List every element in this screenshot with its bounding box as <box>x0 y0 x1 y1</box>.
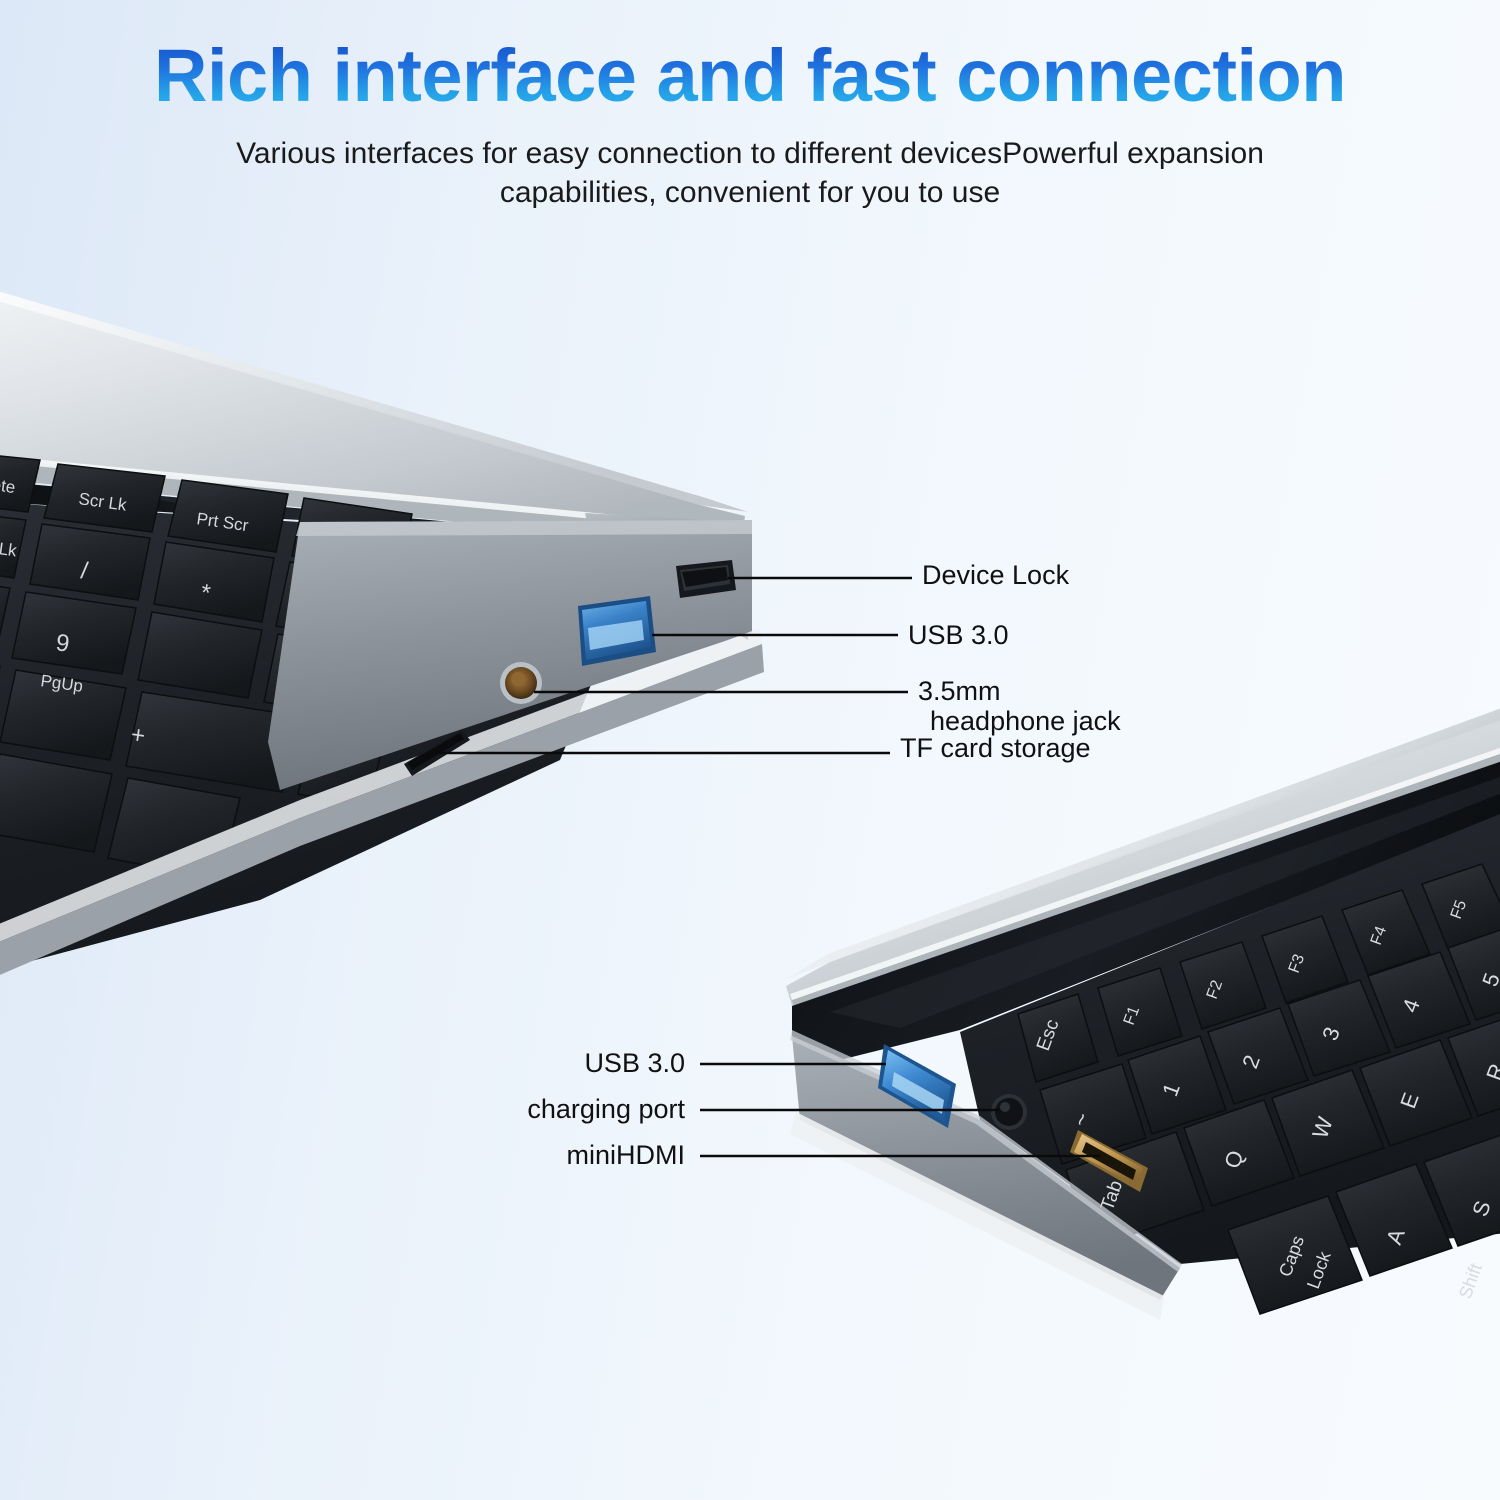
callout-usb-top-label: USB 3.0 <box>908 620 1009 650</box>
callout-charging-port: charging port <box>330 1094 685 1124</box>
callout-headphone-jack-label-line1: 3.5mm <box>918 676 1001 706</box>
product-illustration: elete Scr Lk Prt Scr Pause um Lk / * - 8… <box>0 0 1500 1500</box>
callout-headphone-jack-label-line2: headphone jack <box>930 706 1121 736</box>
callout-minihdmi-label: miniHDMI <box>567 1140 686 1170</box>
lower-laptop: Esc F1 F2 F3 F4 F5 ~ 1 2 3 4 5 Tab Q W E… <box>784 694 1500 1320</box>
upper-headphone-jack-port <box>500 662 542 704</box>
callout-minihdmi: miniHDMI <box>330 1140 685 1170</box>
svg-text:Shift: Shift <box>1455 1261 1486 1302</box>
callout-device-lock: Device Lock <box>922 560 1069 590</box>
callout-charging-port-label: charging port <box>527 1094 685 1124</box>
callout-usb-bottom-label: USB 3.0 <box>584 1048 685 1078</box>
upper-laptop: elete Scr Lk Prt Scr Pause um Lk / * - 8… <box>0 280 764 992</box>
callout-tf-card: TF card storage <box>900 733 1091 763</box>
lower-charging-port <box>991 1094 1027 1130</box>
callout-usb-bottom: USB 3.0 <box>430 1048 685 1078</box>
callout-usb-top: USB 3.0 <box>908 620 1009 650</box>
callout-device-lock-label: Device Lock <box>922 560 1069 590</box>
callout-headphone-jack: 3.5mm headphone jack <box>918 676 1121 736</box>
callout-tf-card-label: TF card storage <box>900 733 1091 763</box>
